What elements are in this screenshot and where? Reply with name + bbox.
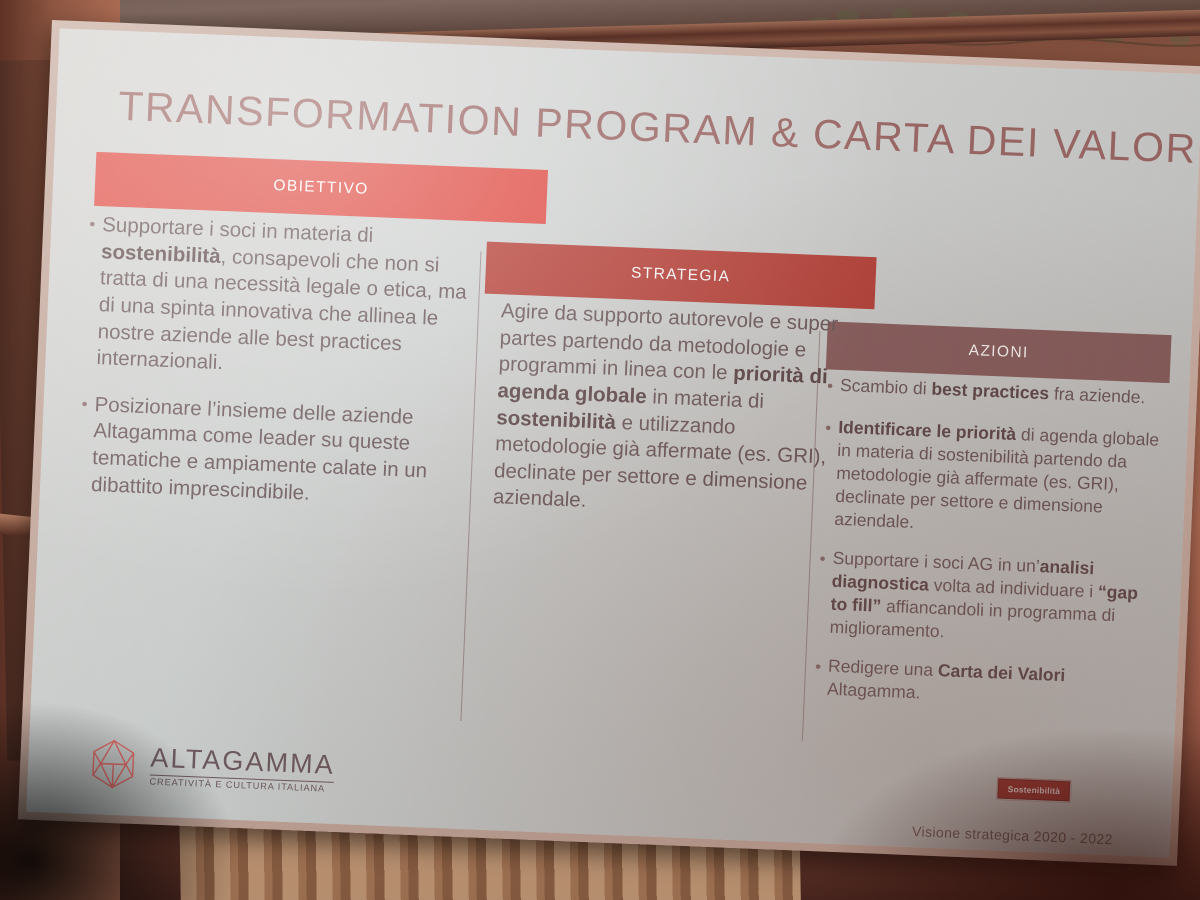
bullet-text: Supportare i soci in materia di sostenib… (96, 212, 490, 387)
column-body-strategia: Agire da supporto autorevole e super par… (479, 298, 841, 545)
bullet-block: •Posizionare l’insieme delle aziende Alt… (78, 391, 482, 514)
bullet-text: Identificare le priorità di agenda globa… (834, 415, 1166, 543)
bullet-marker: • (827, 373, 841, 399)
screenshot-stage: TRANSFORMATION PROGRAM & CARTA DEI VALOR… (0, 0, 1200, 900)
bullet-block: •Redigere una Carta dei Valori Altagamma… (814, 654, 1156, 714)
bullet-block: •Supportare i soci in materia di sosteni… (83, 212, 490, 388)
bullet-text: Supportare i soci AG in un’analisi diagn… (829, 547, 1160, 652)
bullet-block: •Identificare le priorità di agenda glob… (821, 415, 1166, 544)
bullet-text: Redigere una Carta dei Valori Altagamma. (827, 655, 1156, 714)
left-shadow (0, 700, 240, 900)
bullet-text: Posizionare l’insieme delle aziende Alta… (91, 392, 482, 514)
right-shadow (820, 730, 1200, 900)
bullet-block: Agire da supporto autorevole e super par… (479, 298, 840, 525)
column-body-azioni: •Scambio di best practices fra aziende.•… (813, 373, 1167, 730)
bullet-block: •Supportare i soci AG in un’analisi diag… (816, 546, 1160, 652)
bullet-text: Agire da supporto autorevole e super par… (492, 298, 840, 525)
column-body-obiettivo: •Supportare i soci in materia di sosteni… (77, 212, 490, 534)
column-header-azioni: AZIONI (826, 321, 1172, 383)
column-header-obiettivo: OBIETTIVO (94, 152, 548, 224)
